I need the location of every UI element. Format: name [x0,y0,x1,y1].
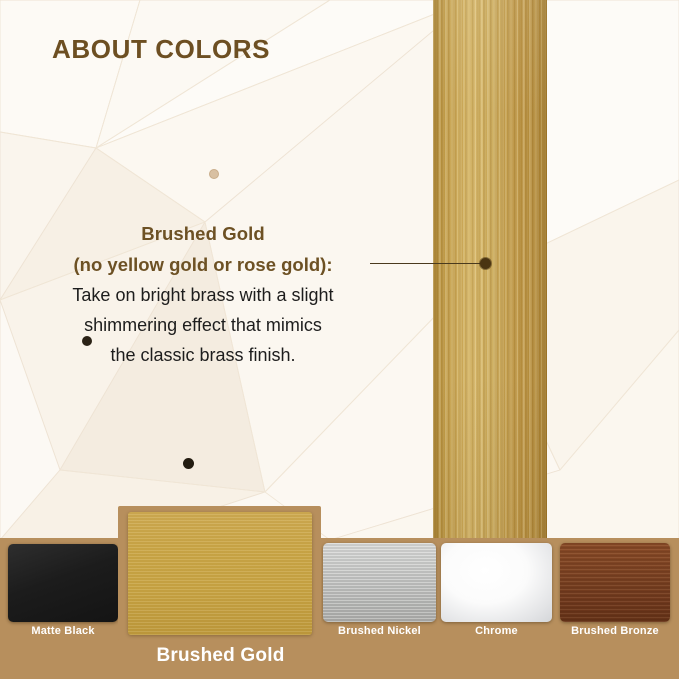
callout-text-block: Brushed Gold (no yellow gold or rose gol… [38,218,368,370]
brushed-gold-bar-sample [433,0,547,538]
swatch-brushed-nickel[interactable] [323,543,436,622]
swatch-label-brushed-nickel: Brushed Nickel [312,625,447,637]
leader-endpoint-dot [480,258,491,269]
swatch-brushed-gold-featured[interactable] [128,512,312,635]
page-title: ABOUT COLORS [52,34,270,65]
swatch-label-chrome: Chrome [441,625,552,637]
about-colors-infographic: ABOUT COLORS Brushed Gold (no yellow gol… [0,0,679,679]
callout-heading-line-2: (no yellow gold or rose gold): [38,249,368,280]
decorative-tan-dot [209,169,219,179]
swatch-brushed-bronze[interactable] [560,543,670,622]
featured-swatch-frame [118,506,321,641]
callout-body-line-1: Take on bright brass with a slight [38,280,368,310]
swatch-label-brushed-gold-featured: Brushed Gold [118,645,323,667]
swatch-chrome[interactable] [441,543,552,622]
swatch-label-brushed-bronze: Brushed Bronze [548,625,679,637]
decorative-dark-dot-lower [183,458,194,469]
swatch-label-matte-black: Matte Black [8,625,118,637]
callout-leader-line [370,263,488,264]
callout-heading-line-1: Brushed Gold [38,218,368,249]
swatch-matte-black[interactable] [8,544,118,622]
decorative-dark-dot-upper [82,336,92,346]
